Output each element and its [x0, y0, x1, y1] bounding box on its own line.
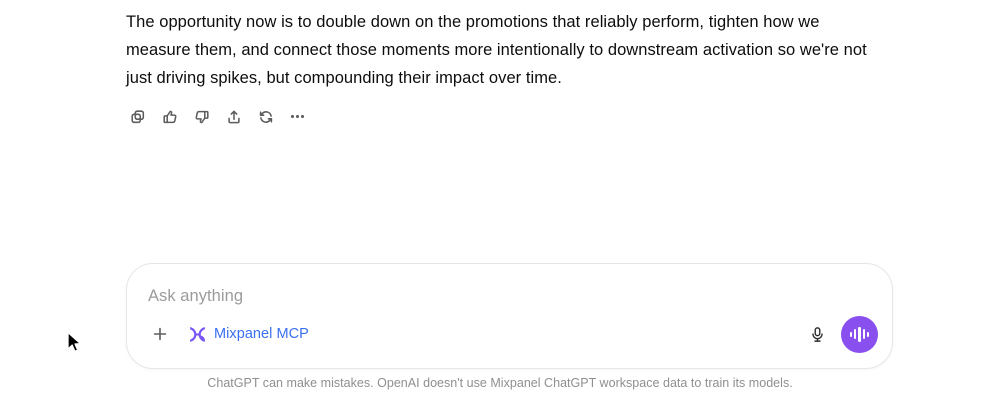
mouse-pointer [66, 331, 84, 355]
composer[interactable]: Ask anything Mixpanel MCP [126, 263, 893, 369]
footer-disclaimer: ChatGPT can make mistakes. OpenAI doesn'… [0, 376, 1000, 390]
message-paragraph: The opportunity now is to double down on… [126, 8, 886, 92]
thumbs-down-button[interactable] [190, 105, 213, 128]
regenerate-button[interactable] [254, 105, 277, 128]
more-button[interactable] [286, 105, 309, 128]
thumbs-up-button[interactable] [158, 105, 181, 128]
mixpanel-logo-icon [188, 325, 207, 344]
mixpanel-mcp-label: Mixpanel MCP [214, 326, 309, 342]
assistant-message: The opportunity now is to double down on… [126, 8, 886, 92]
mixpanel-mcp-chip[interactable]: Mixpanel MCP [185, 322, 315, 347]
microphone-icon [809, 326, 826, 343]
thumbs-up-icon [162, 109, 178, 125]
plus-icon [151, 325, 169, 343]
share-icon [226, 109, 242, 125]
dictate-button[interactable] [802, 319, 832, 349]
add-attachment-button[interactable] [145, 319, 175, 349]
prompt-input[interactable]: Ask anything [148, 283, 832, 309]
copy-icon [130, 109, 146, 125]
composer-toolbar: Mixpanel MCP [127, 308, 892, 360]
prompt-placeholder: Ask anything [148, 283, 243, 309]
copy-button[interactable] [126, 105, 149, 128]
more-icon [291, 115, 305, 118]
waveform-icon [850, 326, 869, 342]
regenerate-icon [258, 109, 274, 125]
share-button[interactable] [222, 105, 245, 128]
thumbs-down-icon [194, 109, 210, 125]
message-action-toolbar [126, 105, 309, 128]
voice-mode-button[interactable] [841, 316, 878, 353]
